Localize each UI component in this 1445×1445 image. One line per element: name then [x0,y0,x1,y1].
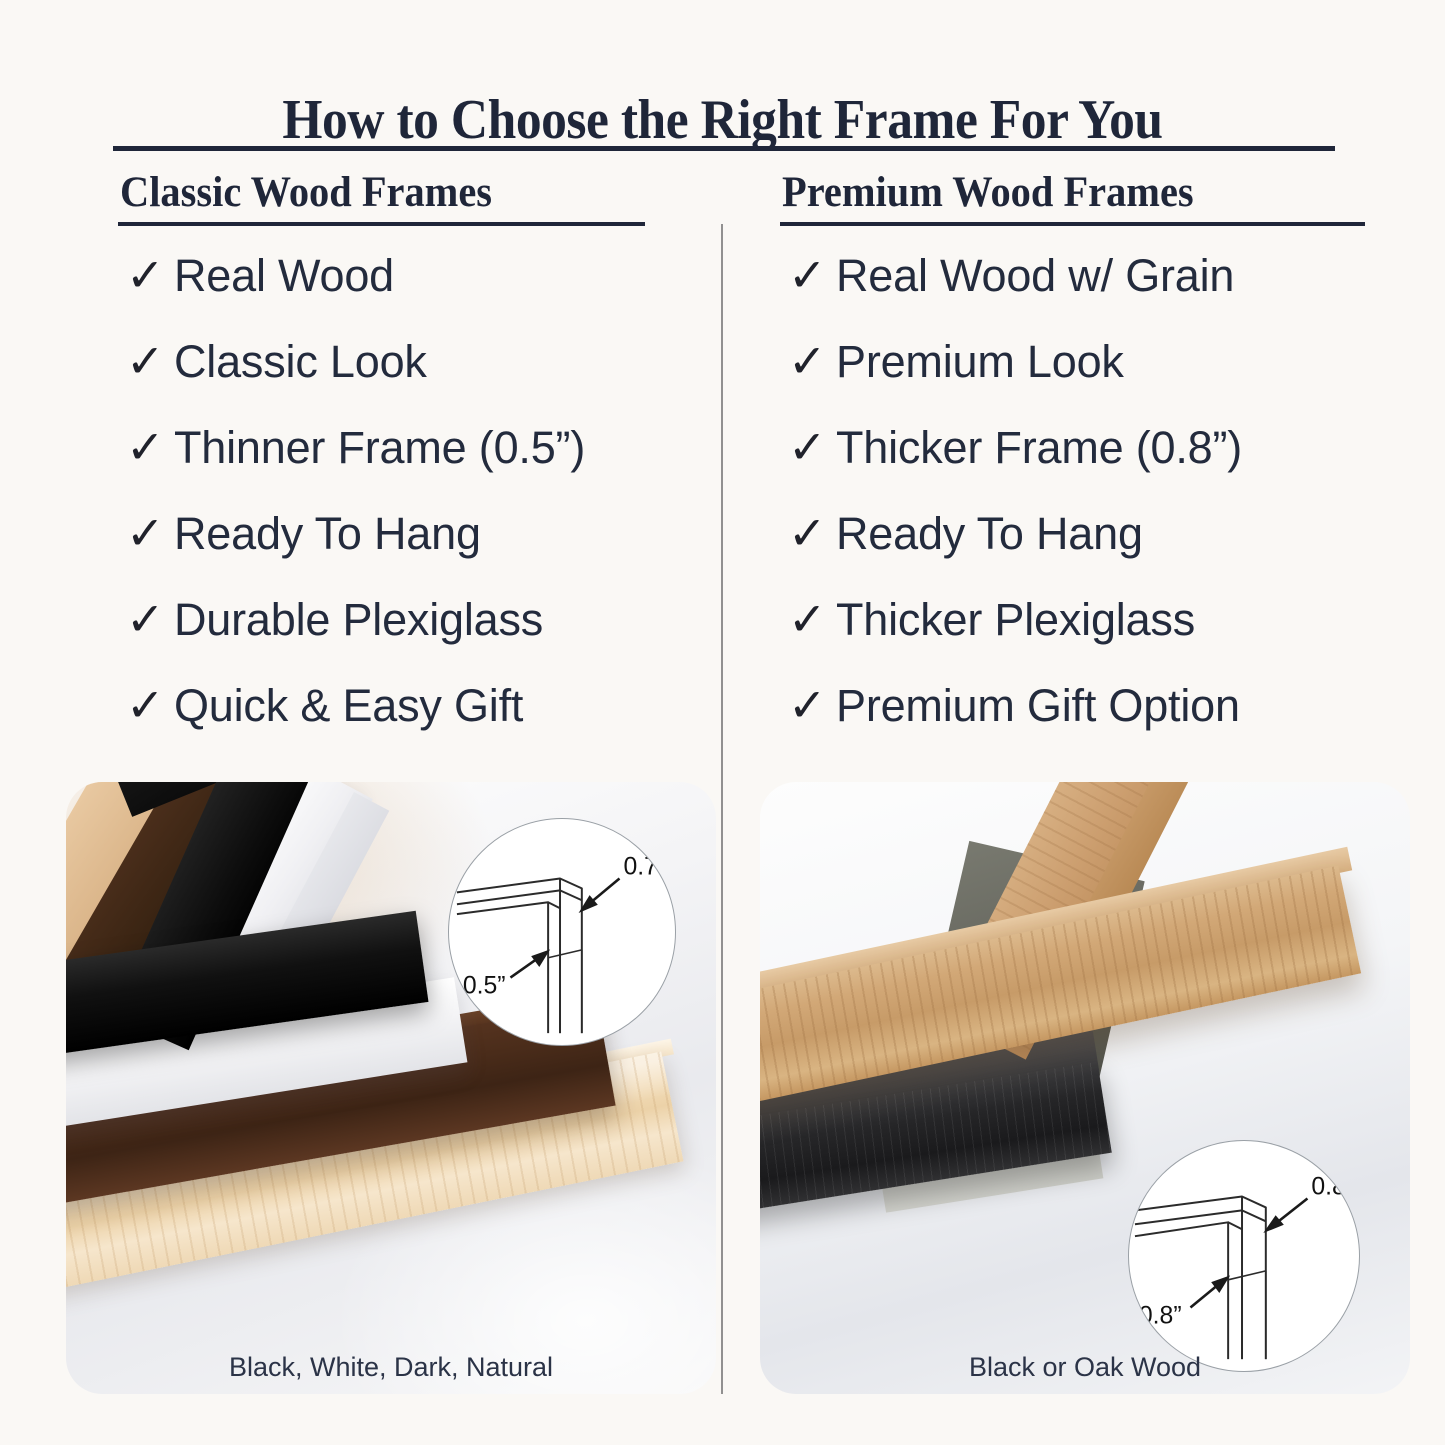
feature-label: Thicker Frame (0.8”) [836,425,1242,470]
feature-list-classic: ✓ Real Wood ✓ Classic Look ✓ Thinner Fra… [126,252,585,768]
list-item: ✓ Durable Plexiglass [126,596,585,682]
check-icon: ✓ [788,596,836,642]
list-item: ✓ Thicker Frame (0.8”) [788,424,1242,510]
feature-label: Ready To Hang [174,511,481,556]
feature-label: Quick & Easy Gift [174,683,523,728]
list-item: ✓ Classic Look [126,338,585,424]
list-item: ✓ Thinner Frame (0.5”) [126,424,585,510]
check-icon: ✓ [126,338,174,384]
feature-label: Real Wood [174,253,394,298]
feature-label: Thicker Plexiglass [836,597,1195,642]
column-divider [721,224,723,1394]
column-heading-classic: Classic Wood Frames [120,168,492,217]
feature-label: Ready To Hang [836,511,1143,556]
list-item: ✓ Thicker Plexiglass [788,596,1242,682]
list-item: ✓ Quick & Easy Gift [126,682,585,768]
column-heading-classic-underline [118,222,645,226]
check-icon: ✓ [788,510,836,556]
feature-label: Classic Look [174,339,427,384]
check-icon: ✓ [126,596,174,642]
feature-label: Thinner Frame (0.5”) [174,425,585,470]
list-item: ✓ Premium Look [788,338,1242,424]
check-icon: ✓ [126,682,174,728]
check-icon: ✓ [788,424,836,470]
check-icon: ✓ [788,338,836,384]
photo-caption-premium: Black or Oak Wood [760,1352,1410,1383]
check-icon: ✓ [126,252,174,298]
check-icon: ✓ [788,682,836,728]
column-heading-premium-underline [780,222,1365,226]
feature-list-premium: ✓ Real Wood w/ Grain ✓ Premium Look ✓ Th… [788,252,1242,768]
inset-diagram-premium: 0.8” 0.8” [1128,1140,1360,1372]
check-icon: ✓ [126,510,174,556]
list-item: ✓ Premium Gift Option [788,682,1242,768]
page-title: How to Choose the Right Frame For You [58,88,1387,152]
feature-label: Premium Gift Option [836,683,1240,728]
inset-diagram-classic: 0.75” 0.5” [448,818,676,1046]
list-item: ✓ Real Wood w/ Grain [788,252,1242,338]
feature-label: Real Wood w/ Grain [836,253,1234,298]
comparison-infographic: How to Choose the Right Frame For You Cl… [0,0,1445,1445]
check-icon: ✓ [788,252,836,298]
list-item: ✓ Real Wood [126,252,585,338]
list-item: ✓ Ready To Hang [126,510,585,596]
list-item: ✓ Ready To Hang [788,510,1242,596]
column-heading-premium: Premium Wood Frames [782,168,1194,217]
inset-width-label: 0.5” [463,972,506,999]
check-icon: ✓ [126,424,174,470]
page-title-underline [113,146,1335,151]
photo-caption-classic: Black, White, Dark, Natural [66,1352,716,1383]
feature-label: Premium Look [836,339,1124,384]
feature-label: Durable Plexiglass [174,597,543,642]
